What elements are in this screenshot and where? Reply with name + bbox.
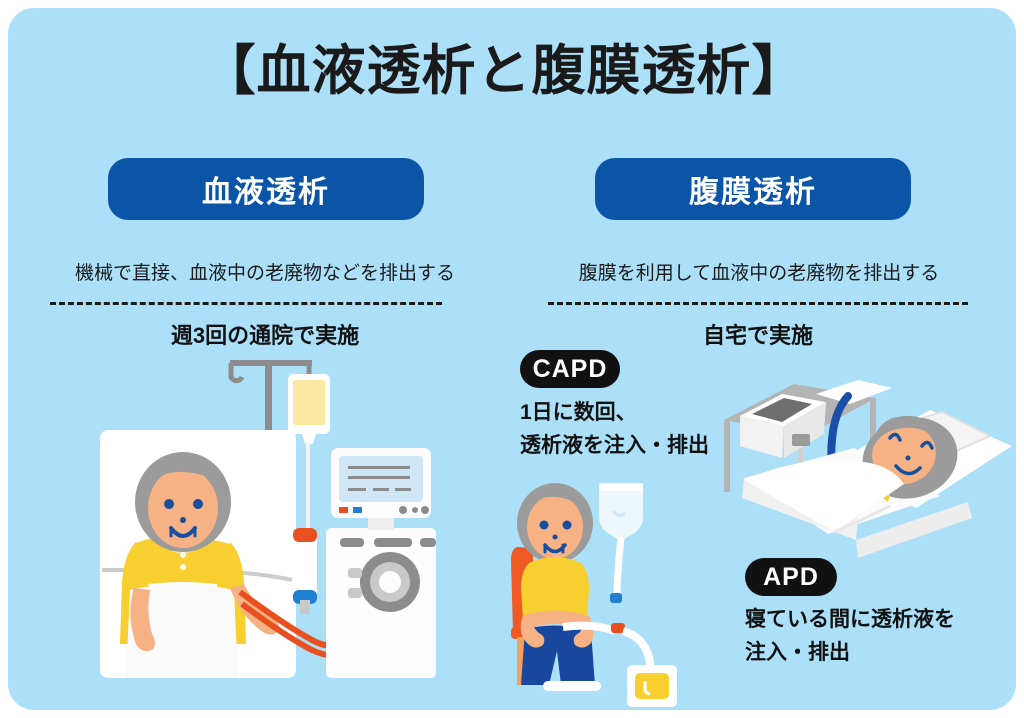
note-apd-line1: 寝ている間に透析液を (745, 604, 995, 637)
subtitle-peritoneal: 自宅で実施 (558, 318, 958, 350)
note-capd: 1日に数回、 透析液を注入・排出 (520, 397, 730, 462)
dialyzer-icon (293, 528, 317, 614)
dialysate-bag-icon (599, 483, 643, 603)
description-peritoneal: 腹膜を利用して血液中の老廃物を排出する (528, 262, 990, 287)
subtitle-hemodialysis: 週3回の通院で実施 (60, 318, 470, 350)
pill-peritoneal: 腹膜透析 (595, 158, 911, 220)
drain-bag-icon (627, 665, 677, 707)
illustration-hemodialysis (90, 352, 445, 697)
pill-hemodialysis: 血液透析 (108, 158, 424, 220)
pill-hemodialysis-label: 血液透析 (202, 167, 330, 211)
note-capd-line2: 透析液を注入・排出 (520, 430, 730, 463)
apd-cycler-icon (740, 394, 826, 458)
divider-left (50, 302, 442, 305)
page-title: 【血液透析と腹膜透析】 (0, 42, 1008, 101)
illustration-capd (505, 475, 720, 695)
divider-right (548, 302, 968, 305)
note-apd: 寝ている間に透析液を 注入・排出 (745, 604, 995, 669)
infographic-canvas: 【血液透析と腹膜透析】 血液透析 機械で直接、血液中の老廃物などを排出する 週3… (0, 0, 1024, 718)
note-capd-line1: 1日に数回、 (520, 397, 730, 430)
machine-monitor (331, 448, 431, 530)
note-apd-line2: 注入・排出 (745, 637, 995, 670)
patient-figure-capd (517, 483, 601, 691)
description-hemodialysis: 機械で直接、血液中の老廃物などを排出する (40, 262, 490, 287)
pill-peritoneal-label: 腹膜透析 (689, 167, 817, 211)
badge-capd: CAPD (520, 350, 620, 388)
dialysis-machine (326, 528, 436, 678)
illustration-apd (700, 372, 1012, 572)
badge-capd-label: CAPD (533, 355, 608, 384)
